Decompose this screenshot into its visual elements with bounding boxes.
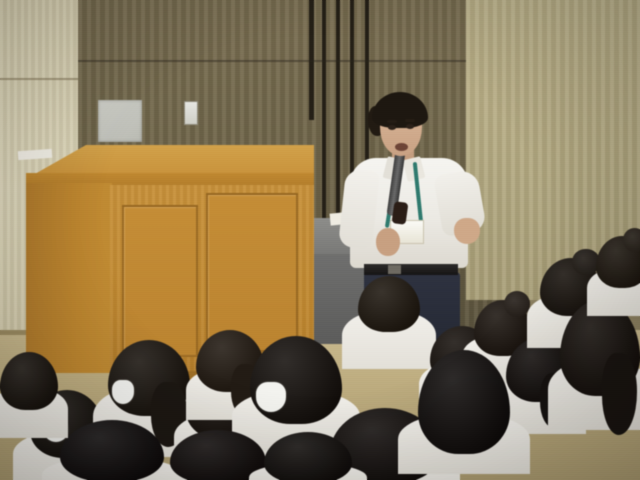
audience-group <box>0 0 640 480</box>
audience-hair-bun <box>623 228 640 252</box>
audience-member <box>0 352 78 460</box>
audience-head <box>418 350 510 454</box>
audience-head <box>358 276 420 332</box>
audience-member <box>264 432 382 480</box>
photograph-lecture-hall <box>0 0 640 480</box>
audience-hair-bun <box>504 291 530 317</box>
audience-head <box>0 352 58 410</box>
audience-member <box>596 236 640 336</box>
audience-head <box>264 432 352 480</box>
face-mask-icon <box>256 382 286 412</box>
face-mask-icon <box>112 380 134 404</box>
audience-head <box>250 336 342 424</box>
audience-member <box>418 350 550 480</box>
